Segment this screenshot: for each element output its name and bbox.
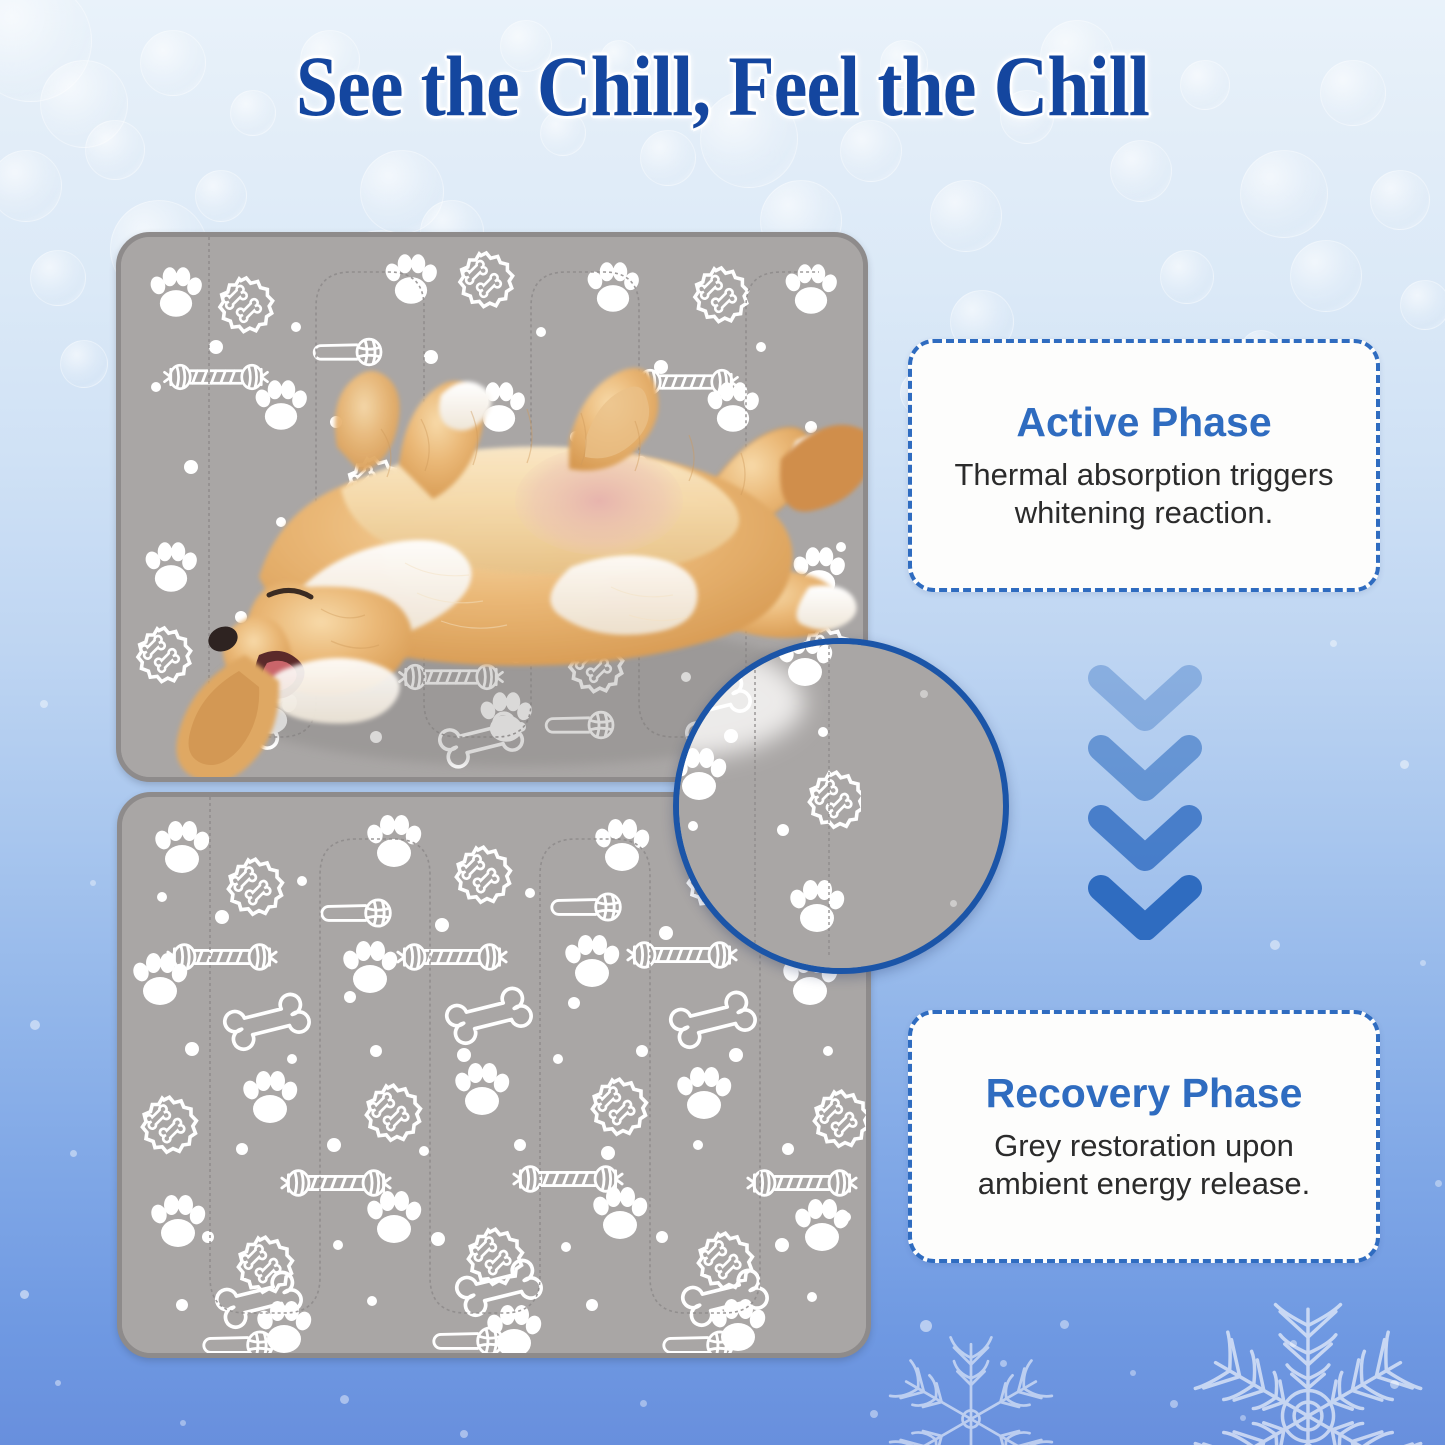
recovery-phase-title: Recovery Phase (986, 1071, 1303, 1115)
infographic-canvas: See the Chill, Feel the Chill (0, 0, 1445, 1445)
recovery-phase-body: Grey restoration upon ambient energy rel… (938, 1127, 1350, 1203)
active-phase-title: Active Phase (1016, 400, 1271, 444)
active-phase-card: Active Phase Thermal absorption triggers… (908, 339, 1380, 592)
chevron-down-icon-2 (1101, 748, 1189, 788)
chevron-down-icon-1 (1101, 678, 1189, 718)
chevron-down-icon-4 (1101, 888, 1189, 928)
chevron-down-icon-3 (1101, 818, 1189, 858)
flow-arrows (1063, 662, 1228, 940)
snowflake-large (1192, 1300, 1424, 1445)
magnifier-circle[interactable] (673, 638, 1009, 974)
active-phase-body: Thermal absorption triggers whitening re… (938, 456, 1350, 532)
snowflake-small (886, 1334, 1056, 1445)
magnified-mat-view (673, 638, 861, 974)
page-title: See the Chill, Feel the Chill (87, 36, 1359, 136)
recovery-phase-card: Recovery Phase Grey restoration upon amb… (908, 1010, 1380, 1263)
